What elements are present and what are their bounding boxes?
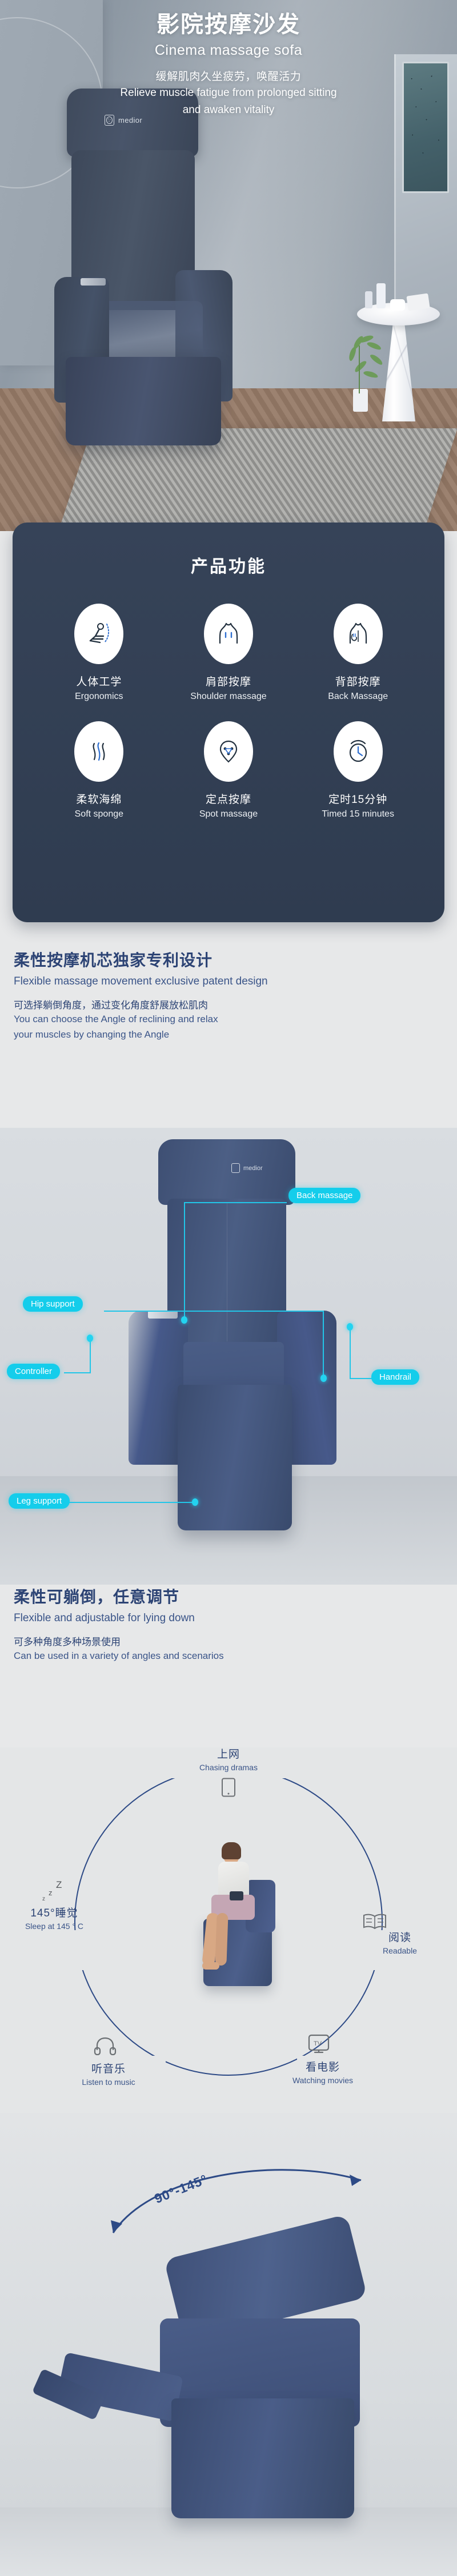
candle-tall-icon — [376, 283, 386, 308]
leader-line-back-h — [184, 1202, 287, 1203]
lying-body-cn: 可多种角度多种场景使用 — [14, 1634, 443, 1648]
patent-body-en-line1: You can choose the Angle of reclining an… — [14, 1012, 443, 1027]
hero-subtitle-en-line2: and awaken vitality — [0, 103, 457, 118]
scenario-circle-section: 上网 Chasing dramas Z z z 145°睡觉 Sleep at … — [0, 1747, 457, 2119]
hotspot-handrail — [347, 1323, 353, 1331]
scenario-node-top[interactable]: 上网 Chasing dramas — [174, 1747, 283, 1797]
hero-section: medior — [0, 0, 457, 531]
product-features-panel: 产品功能 人体工学 Ergonomics — [13, 523, 444, 922]
feature-label-en: Timed 15 minutes — [293, 809, 423, 819]
brand-logo: medior — [231, 1163, 263, 1173]
brand-mark-icon — [231, 1163, 240, 1173]
chair-controller — [148, 1311, 178, 1319]
candle-icon — [365, 291, 372, 308]
patent-body-en-line2: your muscles by changing the Angle — [14, 1028, 443, 1042]
ring-gap-left — [56, 1930, 125, 1970]
leader-line-controller-h — [64, 1372, 90, 1373]
hotspot-leg — [192, 1498, 198, 1506]
lying-heading-section: 柔性可躺倒，任意调节 Flexible and adjustable for l… — [0, 1585, 457, 1663]
product-detail-page: medior — [0, 0, 457, 2576]
svg-text:z: z — [42, 1896, 45, 1902]
brand-name: medior — [243, 1165, 263, 1172]
clock-icon — [334, 721, 383, 782]
person-foot — [202, 1962, 219, 1970]
feature-item-shoulder-massage[interactable]: 肩部按摩 Shoulder massage — [164, 604, 294, 702]
feature-item-spot-massage[interactable]: 定点按摩 Spot massage — [164, 721, 294, 819]
scenario-label-en: Sleep at 145 ° C — [0, 1922, 114, 1931]
patent-heading-en: Flexible massage movement exclusive pate… — [14, 975, 443, 988]
tablet-icon — [174, 1778, 283, 1797]
scenario-node-bottom-left[interactable]: 听音乐 Listen to music — [54, 2060, 163, 2087]
back-hand-icon — [334, 604, 383, 664]
recline-angle-section: 90°-145° — [0, 2113, 457, 2576]
lying-body-en: Can be used in a variety of angles and s… — [14, 1649, 443, 1663]
scenario-label-en: Readable — [343, 1946, 457, 1955]
feature-label-cn: 肩部按摩 — [164, 673, 294, 689]
chair-controller-icon — [81, 278, 106, 286]
scenario-node-left[interactable]: 145°睡觉 Sleep at 145 ° C — [0, 1904, 114, 1931]
patent-heading-section: 柔性按摩机芯独家专利设计 Flexible massage movement e… — [0, 948, 457, 1042]
feature-item-back-massage[interactable]: 背部按摩 Back Massage — [293, 604, 423, 702]
feature-item-timed[interactable]: 定时15分钟 Timed 15 minutes — [293, 721, 423, 819]
hero-massage-chair: medior — [54, 89, 226, 437]
earbuds-case-icon — [390, 299, 405, 311]
scenario-node-bottom-right[interactable]: 看电影 Watching movies — [266, 2059, 380, 2085]
callout-pill-back-massage[interactable]: Back massage — [288, 1188, 360, 1203]
lying-heading-en: Flexible and adjustable for lying down — [14, 1612, 443, 1625]
person-leg-back — [215, 1913, 228, 1966]
feature-item-soft-sponge[interactable]: 柔软海绵 Soft sponge — [34, 721, 164, 819]
hero-text-block: 影院按摩沙发 Cinema massage sofa 缓解肌肉久坐疲劳，唤醒活力… — [0, 9, 457, 117]
chair-base — [178, 1385, 292, 1530]
feature-label-cn: 人体工学 — [34, 673, 164, 689]
location-pin-icon — [204, 721, 253, 782]
recline-base — [171, 2398, 354, 2518]
lying-heading-cn: 柔性可躺倒，任意调节 — [14, 1585, 443, 1608]
feature-label-en: Ergonomics — [34, 692, 164, 702]
tablet-in-hand-icon — [230, 1891, 243, 1900]
chair-base — [66, 357, 221, 445]
ergonomic-seat-icon — [74, 604, 123, 664]
patent-heading-cn: 柔性按摩机芯独家专利设计 — [14, 948, 443, 971]
features-heading: 产品功能 — [13, 552, 444, 577]
hero-title-en: Cinema massage sofa — [0, 42, 457, 59]
callout-pill-leg-support[interactable]: Leg support — [9, 1493, 70, 1509]
feature-label-en: Shoulder massage — [164, 692, 294, 702]
scenario-label-en: Watching movies — [266, 2076, 380, 2085]
magazine-icon — [406, 293, 430, 311]
hotspot-controller — [87, 1335, 93, 1342]
callout-pill-handrail[interactable]: Handrail — [371, 1369, 419, 1385]
feature-label-en: Soft sponge — [34, 809, 164, 819]
scenario-node-right[interactable]: 阅读 Readable — [343, 1929, 457, 1955]
leader-line-hip-down — [323, 1311, 324, 1379]
callout-pill-controller[interactable]: Controller — [7, 1364, 60, 1379]
svg-text:Z: Z — [56, 1879, 62, 1890]
person-on-chair-illustration — [189, 1827, 286, 2016]
hero-subtitle-cn: 缓解肌肉久坐疲劳，唤醒活力 — [0, 68, 457, 83]
scenario-label-en: Listen to music — [54, 2077, 163, 2087]
hero-title-cn: 影院按摩沙发 — [0, 9, 457, 40]
features-grid: 人体工学 Ergonomics 肩部按摩 Shoulder massage — [13, 604, 444, 819]
wave-sponge-icon — [74, 721, 123, 782]
leader-line-handrail-v — [350, 1327, 351, 1379]
leader-line-controller-v — [90, 1338, 91, 1373]
feature-item-ergonomics[interactable]: 人体工学 Ergonomics — [34, 604, 164, 702]
headphone-icon — [94, 2036, 117, 2058]
chair-headrest: medior — [158, 1139, 295, 1205]
svg-text:TV: TV — [314, 2040, 322, 2047]
scenario-label-cn: 阅读 — [343, 1929, 457, 1944]
leader-line-leg — [69, 1502, 195, 1503]
shoulder-icon — [204, 604, 253, 664]
potted-plant — [336, 334, 387, 411]
patent-body-cn: 可选择躺倒角度，通过变化角度舒展放松肌肉 — [14, 997, 443, 1011]
hotspot-back — [181, 1316, 187, 1324]
plant-pot — [353, 389, 368, 412]
svg-text:z: z — [49, 1888, 53, 1897]
callout-diagram-section: medior Hip support Back massage C — [0, 1128, 457, 1585]
feature-label-en: Spot massage — [164, 809, 294, 819]
leader-line-back-v — [184, 1202, 185, 1319]
hotspot-hip — [320, 1375, 327, 1382]
leader-line-hip — [104, 1311, 324, 1312]
sleep-zzz-icon: Z z z — [39, 1878, 71, 1906]
feature-label-cn: 背部按摩 — [293, 673, 423, 689]
scenario-label-cn: 听音乐 — [54, 2060, 163, 2076]
scenario-label-cn: 看电影 — [266, 2059, 380, 2074]
feature-label-en: Back Massage — [293, 692, 423, 702]
hero-subtitle-en-line1: Relieve muscle fatigue from prolonged si… — [0, 86, 457, 101]
tv-icon: TV — [305, 2033, 332, 2059]
scenario-label-cn: 145°睡觉 — [0, 1904, 114, 1920]
callout-pill-hip-support[interactable]: Hip support — [23, 1296, 83, 1312]
scenario-label-cn: 上网 — [174, 1747, 283, 1761]
feature-label-cn: 定时15分钟 — [293, 791, 423, 806]
scenario-label-en: Chasing dramas — [174, 1763, 283, 1772]
feature-label-cn: 柔软海绵 — [34, 791, 164, 806]
feature-label-cn: 定点按摩 — [164, 791, 294, 806]
person-hair — [222, 1842, 241, 1859]
